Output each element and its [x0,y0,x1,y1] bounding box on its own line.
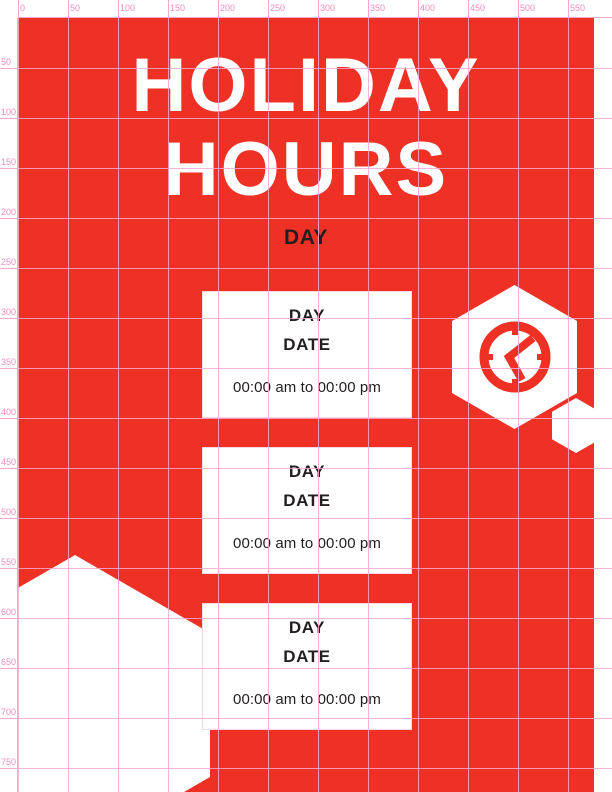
ruler-label-vertical: 650 [1,657,16,667]
hexagon-badge [452,285,577,429]
card-date-label: DATE [283,491,330,511]
ruler-tick-vertical [0,568,18,569]
ruler-label-horizontal: 350 [370,3,385,13]
ruler-tick-vertical [0,768,18,769]
card-day-label: DAY [289,618,325,638]
ruler-label-vertical: 100 [1,107,16,117]
hours-card[interactable]: DAY DATE 00:00 am to 00:00 pm [202,291,412,418]
poster-artboard: HOLIDAY HOURS DAY DAY DATE 00:00 am to 0… [18,18,594,792]
ruler-label-horizontal: 200 [220,3,235,13]
ruler-tick-vertical [0,718,18,719]
hours-card[interactable]: DAY DATE 00:00 am to 00:00 pm [202,447,412,574]
card-date-label: DATE [283,647,330,667]
ruler-corner [0,0,18,18]
ruler-tick-horizontal [468,0,469,18]
card-time-label: 00:00 am to 00:00 pm [233,691,381,708]
ruler-label-horizontal: 0 [20,3,25,13]
ruler-tick-horizontal [218,0,219,18]
ruler-tick-vertical [0,118,18,119]
ruler-vertical[interactable]: 5010015020025030035040045050055060065070… [0,0,18,792]
title-line-2: HOURS [18,132,594,208]
ruler-tick-vertical [0,368,18,369]
ruler-horizontal[interactable]: 050100150200250300350400450500550 [0,0,612,18]
ruler-label-vertical: 300 [1,307,16,317]
ruler-tick-vertical [0,268,18,269]
card-day-label: DAY [289,462,325,482]
card-time-label: 00:00 am to 00:00 pm [233,379,381,396]
page-title: HOLIDAY HOURS [18,48,594,208]
card-time-label: 00:00 am to 00:00 pm [233,535,381,552]
ruler-label-horizontal: 100 [120,3,135,13]
ruler-tick-vertical [0,418,18,419]
ruler-label-vertical: 150 [1,157,16,167]
ruler-label-horizontal: 150 [170,3,185,13]
ruler-tick-horizontal [418,0,419,18]
ruler-label-vertical: 600 [1,607,16,617]
card-day-label: DAY [289,306,325,326]
ruler-label-vertical: 200 [1,207,16,217]
ruler-tick-horizontal [68,0,69,18]
ruler-label-vertical: 350 [1,357,16,367]
title-line-1: HOLIDAY [18,48,594,124]
ruler-label-vertical: 450 [1,457,16,467]
ruler-label-horizontal: 50 [70,3,80,13]
ruler-label-horizontal: 250 [270,3,285,13]
ruler-tick-vertical [0,518,18,519]
ruler-tick-vertical [0,668,18,669]
ruler-tick-vertical [0,68,18,69]
ruler-tick-horizontal [268,0,269,18]
ruler-label-vertical: 250 [1,257,16,267]
ruler-tick-vertical [0,618,18,619]
ruler-label-vertical: 50 [1,57,11,67]
ruler-label-horizontal: 550 [570,3,585,13]
ruler-label-vertical: 700 [1,707,16,717]
ruler-tick-vertical [0,168,18,169]
hours-card[interactable]: DAY DATE 00:00 am to 00:00 pm [202,603,412,730]
ruler-tick-horizontal [368,0,369,18]
ruler-tick-vertical [0,468,18,469]
poster-subtitle: DAY [18,226,594,250]
clock-icon [476,318,554,396]
ruler-tick-horizontal [518,0,519,18]
ruler-label-vertical: 400 [1,407,16,417]
ruler-tick-horizontal [568,0,569,18]
ruler-tick-horizontal [168,0,169,18]
ruler-tick-horizontal [118,0,119,18]
ruler-label-horizontal: 300 [320,3,335,13]
ruler-label-vertical: 750 [1,757,16,767]
card-date-label: DATE [283,335,330,355]
ruler-label-horizontal: 400 [420,3,435,13]
ruler-tick-horizontal [18,0,19,18]
poster-canvas: HOLIDAY HOURS DAY DAY DATE 00:00 am to 0… [0,0,612,792]
ruler-label-vertical: 500 [1,507,16,517]
ruler-label-horizontal: 500 [520,3,535,13]
ruler-label-vertical: 550 [1,557,16,567]
ruler-tick-horizontal [318,0,319,18]
ruler-tick-vertical [0,318,18,319]
ruler-tick-vertical [0,218,18,219]
ruler-label-horizontal: 450 [470,3,485,13]
